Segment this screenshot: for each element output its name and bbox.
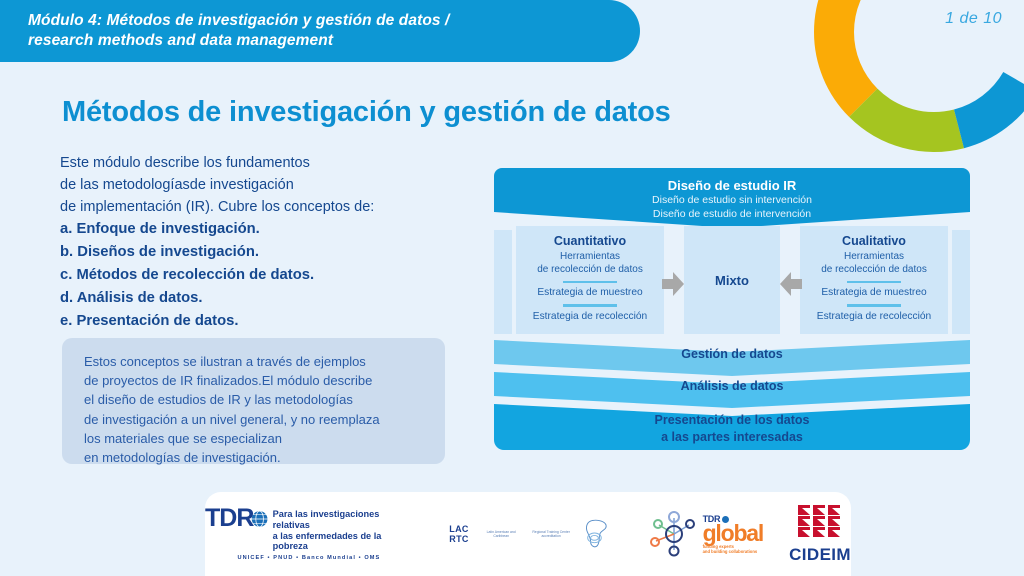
intro-line: de las metodologíasde investigación [60,174,480,196]
band-title: Gestión de datos [681,340,782,363]
tdr-tagline-line2: a las enfermedades de la pobreza [273,531,382,552]
column-cuantitativo: Cuantitativo Herramientas de recolección… [516,226,664,334]
column-heading: Cuantitativo [516,234,664,248]
column-cualitativo: Cualitativo Herramientas de recolección … [800,226,948,334]
column-heading: Mixto [715,273,749,288]
list-item: e. Presentación de datos. [60,310,490,333]
column-item: Estrategia de muestreo [516,283,664,300]
column-item: Estrategia de muestreo [800,283,948,300]
header-title: Módulo 4: Métodos de investigación y ges… [0,11,479,52]
list-item: b. Diseños de investigación. [60,241,490,264]
intro-line: Este módulo describe los fundamentos [60,152,480,174]
diagram-columns: Cuantitativo Herramientas de recolección… [494,226,970,336]
logo-lac-rtc: LAC RTC Latin American and Caribbean Reg… [439,518,622,550]
arrow-left-icon [780,272,802,296]
arrow-right-icon [662,272,684,296]
header-title-line1: Módulo 4: Métodos de investigación y ges… [28,12,449,29]
tdr-partners: UNICEF • PNUD • Banco Mundial • OMS [205,555,413,561]
column-item: Estrategia de recolección [800,307,948,324]
lac-wordmark: LAC RTC [439,524,479,544]
logo-cideim: CIDEIM [789,504,851,565]
cideim-arrows-icon [797,504,843,538]
intro-line: de implementación (IR). Cubre los concep… [60,196,480,218]
column-tool-line: de recolección de datos [516,264,664,277]
global-sub-line2: and building collaborations [703,549,764,554]
diagram-band-analisis: Análisis de datos [494,372,970,408]
column-edge-right [952,230,970,334]
column-tool-line: de recolección de datos [800,264,948,277]
logo-tdr: TDR Para las investigaciones relativas a… [205,507,413,561]
page-title: Métodos de investigación y gestión de da… [62,96,671,129]
callout-line: Estos conceptos se ilustran a través de … [84,352,427,371]
callout-line: de proyectos de IR finalizados.El módulo… [84,371,427,390]
donut-segment-orange [814,0,934,32]
donut-segment-blue [954,72,1024,148]
list-item: c. Métodos de recolección de datos. [60,264,490,287]
network-nodes-icon [648,511,700,557]
concept-list: a. Enfoque de investigación. b. Diseños … [60,218,490,333]
band-title: Diseño de estudio IR [652,178,812,193]
intro-paragraph: Este módulo describe los fundamentos de … [60,152,480,219]
logo-tdr-global: TDR global funding experts and building … [648,511,764,557]
header-title-line2: research methods and data management [28,32,333,49]
column-heading: Cualitativo [800,234,948,248]
slide-header-bar: Módulo 4: Métodos de investigación y ges… [0,0,640,62]
tdr-tagline-line1: Para las investigaciones relativas [273,509,380,530]
band-subtitle: Diseño de estudio de intervención [652,207,812,221]
latin-america-map-icon [579,518,622,550]
footer-logo-bar: TDR Para las investigaciones relativas a… [205,492,851,576]
tdr-tagline: Para las investigaciones relativas a las… [273,507,413,552]
column-mixto: Mixto [684,226,780,334]
lac-sub-line2: Regional Training Center accreditation [523,530,579,539]
column-tool-line: Herramientas [800,251,948,264]
band-title: Análisis de datos [681,372,784,395]
global-wordmark: global [703,524,764,544]
callout-line: de investigación a un nivel general, y n… [84,410,427,429]
column-item: Estrategia de recolección [516,307,664,324]
diagram-band-presentacion: Presentación de los datos a las partes i… [494,404,970,450]
callout-line: el diseño de estudios de IR y las metodo… [84,390,427,409]
globe-icon [251,510,268,528]
diagram-band-study-design: Diseño de estudio IR Diseño de estudio s… [494,168,970,228]
callout-line: los materiales que se especializan [84,429,427,448]
column-tool-line: Herramientas [516,251,664,264]
callout-line: en metodologías de investigación. [84,448,427,467]
band-title: Presentación de los datos [655,412,810,429]
tdr-wordmark: TDR [205,507,253,531]
page-indicator: 1 de 10 [945,10,1002,28]
cideim-wordmark: CIDEIM [789,545,851,565]
band-subtitle: Diseño de estudio sin intervención [652,193,812,207]
band-subtitle: a las partes interesadas [655,429,810,446]
process-diagram: Diseño de estudio IR Diseño de estudio s… [494,168,970,446]
list-item: a. Enfoque de investigación. [60,218,490,241]
column-edge-left [494,230,512,334]
callout-box: Estos conceptos se ilustran a través de … [62,338,445,464]
lac-sub-line1: Latin American and Caribbean [479,530,523,539]
diagram-band-gestion: Gestión de datos [494,340,970,376]
list-item: d. Análisis de datos. [60,287,490,310]
